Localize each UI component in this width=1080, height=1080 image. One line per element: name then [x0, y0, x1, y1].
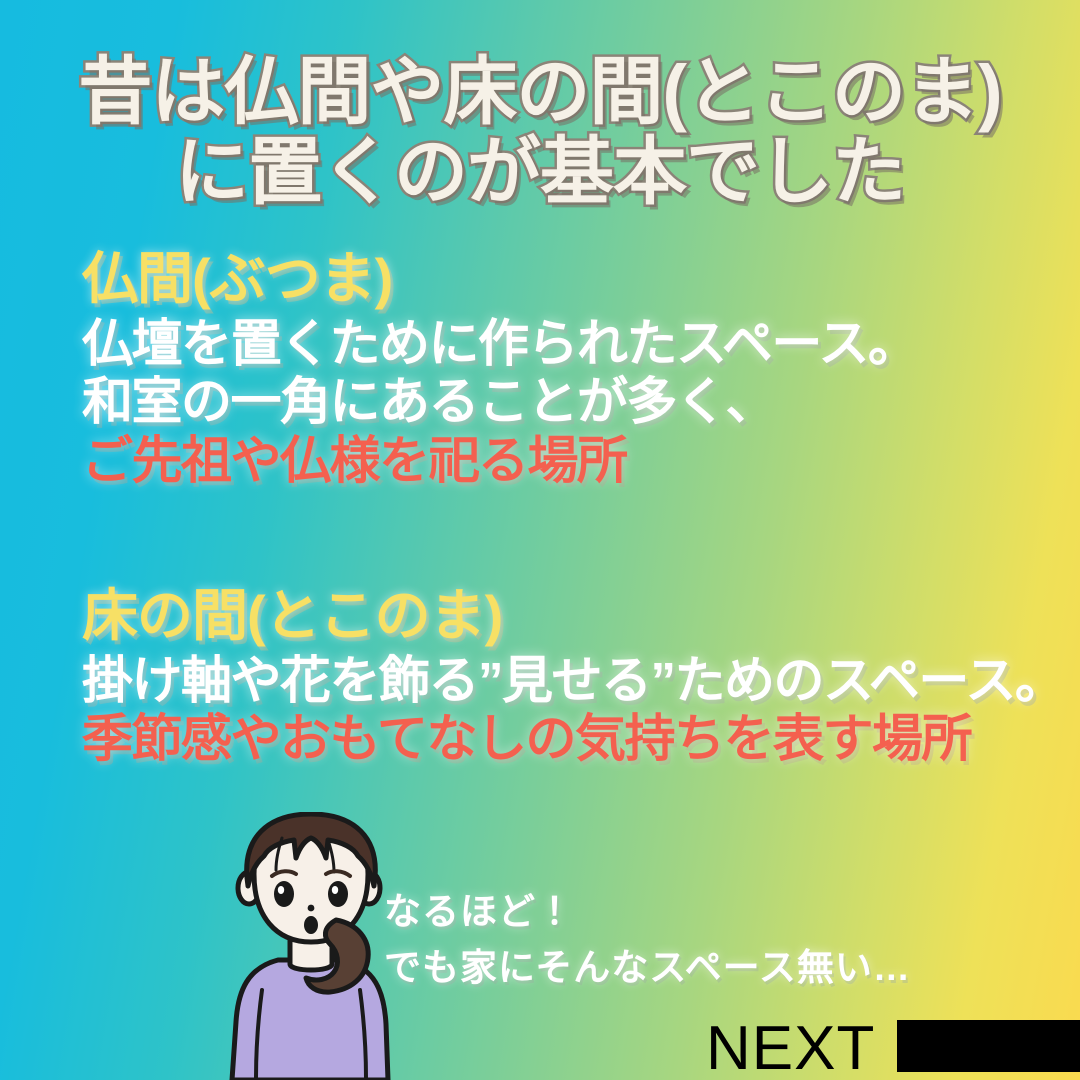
slide-canvas: 昔は仏間や床の間(とこのま) に置くのが基本でした 仏間(ぶつま) 仏壇を置くた… [0, 0, 1080, 1080]
next-button-label: NEXT [706, 1018, 875, 1080]
surprised-girl-icon [218, 812, 408, 1080]
section-tokonoma: 床の間(とこのま) 掛け軸や花を飾る”見せる”ためのスペース。 季節感やおもてな… [82, 585, 1064, 769]
section-body-line: 和室の一角にあることが多く、 [82, 373, 917, 432]
section-body-line: 掛け軸や花を飾る”見せる”ためのスペース。 [82, 652, 1064, 711]
speech-line-1: なるほど！ [384, 884, 911, 940]
title-line-2: に置くのが基本でした [0, 132, 1080, 212]
next-button[interactable]: NEXT [706, 992, 1080, 1080]
section-heading-tokonoma: 床の間(とこのま) [82, 585, 1064, 648]
speech-text: なるほど！ でも家にそんなスペース無い… [384, 884, 911, 995]
section-butsuma: 仏間(ぶつま) 仏壇を置くために作られたスペース。 和室の一角にあることが多く、… [82, 248, 917, 491]
speech-line-2: でも家にそんなスペース無い… [384, 940, 911, 996]
section-body-line-accent: 季節感やおもてなしの気持ちを表す場所 [82, 710, 1064, 769]
title-line-1: 昔は仏間や床の間(とこのま) [0, 52, 1080, 132]
section-body-line: 仏壇を置くために作られたスペース。 [82, 315, 917, 374]
arrow-right-icon[interactable] [897, 992, 1080, 1080]
section-heading-butsuma: 仏間(ぶつま) [82, 248, 917, 311]
section-body-line-accent: ご先祖や仏様を祀る場所 [82, 432, 917, 491]
page-title: 昔は仏間や床の間(とこのま) に置くのが基本でした [0, 52, 1080, 212]
